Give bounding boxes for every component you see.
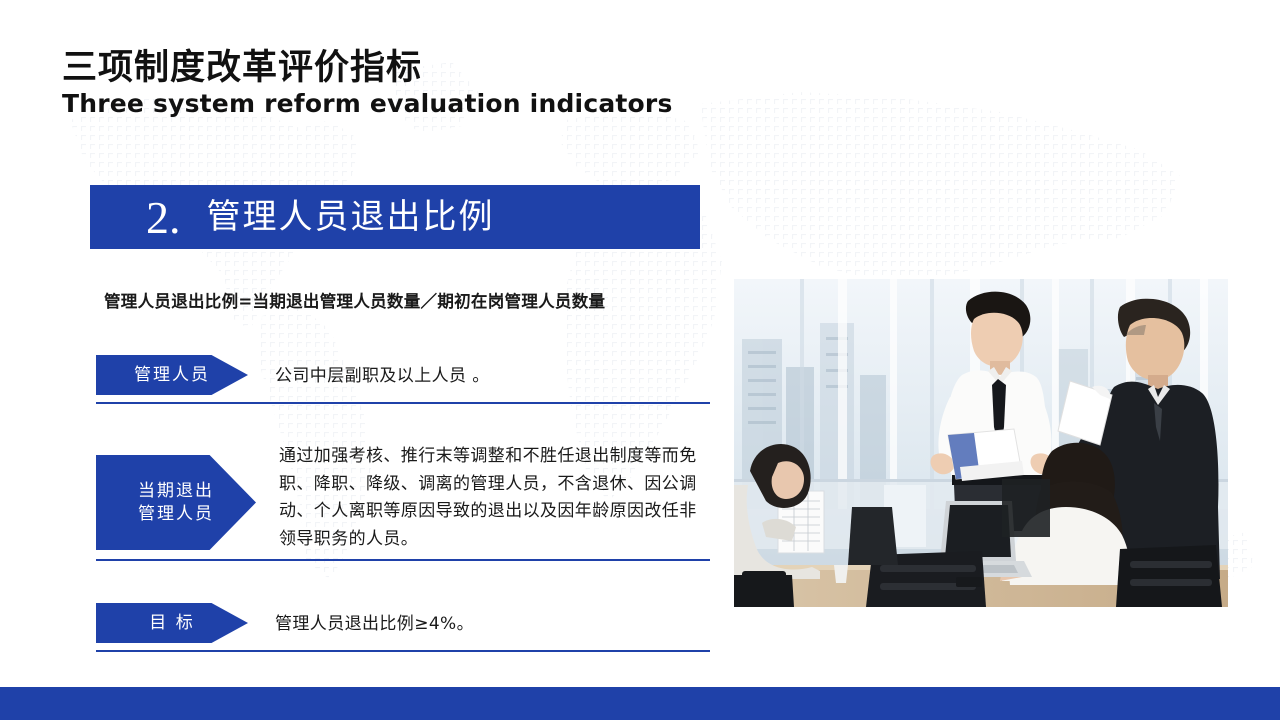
row-label-line2: 管理人员 — [138, 503, 214, 526]
row-description: 管理人员退出比例≥4%。 — [275, 611, 705, 639]
row-label-line1: 当期退出 — [138, 480, 214, 503]
section-title: 管理人员退出比例 — [207, 200, 495, 234]
page-title: 三项制度改革评价指标 Three system reform evaluatio… — [62, 48, 673, 119]
definition-row: 管理人员 公司中层副职及以上人员 。 — [96, 355, 710, 415]
row-description: 公司中层副职及以上人员 。 — [275, 363, 705, 391]
row-divider — [96, 402, 710, 404]
row-divider — [96, 650, 710, 652]
office-meeting-photo — [734, 279, 1228, 607]
row-divider — [96, 559, 710, 561]
row-label-line1: 管理人员 — [134, 364, 210, 387]
row-description: 通过加强考核、推行末等调整和不胜任退出制度等而免职、降职、降级、调离的管理人员，… — [279, 443, 707, 553]
section-banner: 2. 管理人员退出比例 — [90, 185, 700, 249]
row-label-tab: 目 标 — [96, 603, 248, 643]
row-label-tab: 当期退出 管理人员 — [96, 455, 256, 550]
row-label-line1: 目 标 — [149, 612, 194, 635]
footer-bar — [0, 687, 1280, 720]
formula-text: 管理人员退出比例=当期退出管理人员数量／期初在岗管理人员数量 — [104, 288, 605, 312]
slide-canvas: 三项制度改革评价指标 Three system reform evaluatio… — [0, 0, 1280, 720]
row-label-tab: 管理人员 — [96, 355, 248, 395]
page-title-chinese: 三项制度改革评价指标 — [62, 48, 673, 88]
section-number: 2. — [146, 195, 181, 241]
definition-row: 目 标 管理人员退出比例≥4%。 — [96, 603, 710, 663]
definition-row: 当期退出 管理人员 通过加强考核、推行末等调整和不胜任退出制度等而免职、降职、降… — [96, 443, 710, 565]
page-title-english: Three system reform evaluation indicator… — [62, 89, 673, 119]
